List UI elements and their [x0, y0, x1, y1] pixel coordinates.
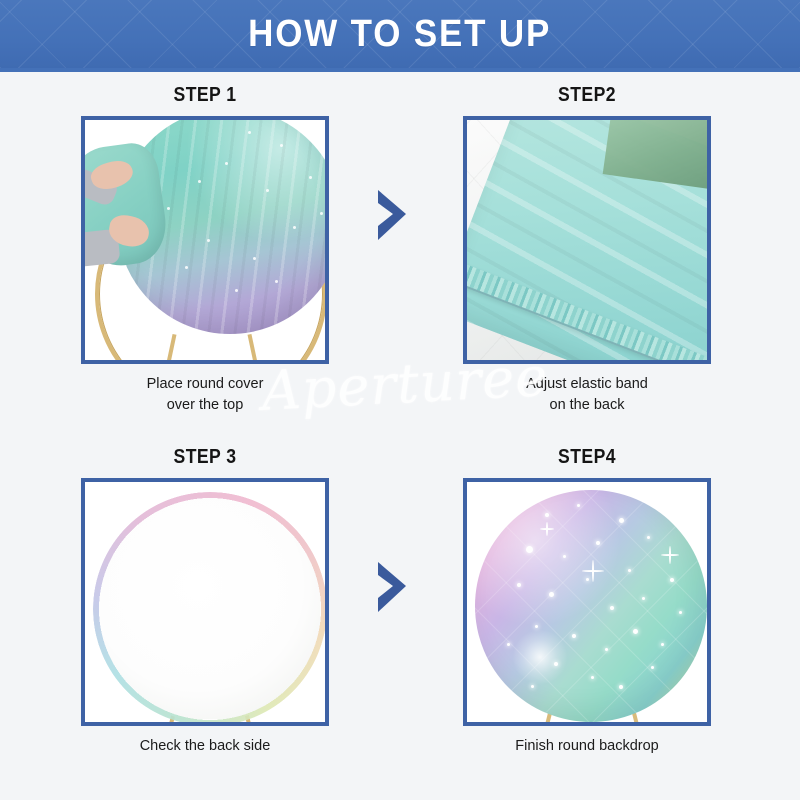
- step-4-image: [463, 478, 711, 726]
- step-2-label: STEP2: [468, 82, 706, 108]
- step-3-illustration: [85, 482, 325, 722]
- step-4-label: STEP4: [468, 444, 706, 470]
- step-3-caption-line-1: Check the back side: [70, 736, 340, 757]
- pastel-rainbow-rim: [93, 492, 325, 722]
- step-1-caption: Place round cover over the top: [70, 374, 340, 416]
- step-2-caption-line-1: Adjust elastic band: [452, 374, 722, 395]
- step-4-caption: Finish round backdrop: [452, 736, 722, 757]
- step-4-illustration: [467, 482, 707, 722]
- step-card-1: STEP 1: [70, 82, 340, 422]
- step-1-illustration: [85, 120, 325, 360]
- step-1-image: [81, 116, 329, 364]
- finished-round-backdrop: [475, 490, 707, 722]
- star-glint-icon: [661, 546, 679, 564]
- step-2-caption: Adjust elastic band on the back: [452, 374, 722, 416]
- chevron-right-icon: [376, 562, 408, 612]
- step-4-caption-line-1: Finish round backdrop: [452, 736, 722, 757]
- step-3-caption: Check the back side: [70, 736, 340, 757]
- step-1-caption-line-1: Place round cover: [70, 374, 340, 395]
- step-card-3: STEP 3 Check the back side: [70, 444, 340, 784]
- step-1-caption-line-2: over the top: [70, 395, 340, 416]
- page-title: HOW TO SET UP: [249, 13, 552, 56]
- star-glint-icon: [540, 522, 554, 536]
- step-card-2: STEP2 Adjust elastic band on the back: [452, 82, 722, 422]
- sparkle-dots: [475, 490, 707, 722]
- step-3-image: [81, 478, 329, 726]
- step-2-image: [463, 116, 711, 364]
- step-2-caption-line-2: on the back: [452, 395, 722, 416]
- star-glint-icon: [582, 560, 604, 582]
- step-3-label: STEP 3: [86, 444, 324, 470]
- step-1-label: STEP 1: [86, 82, 324, 108]
- step-card-4: STEP4: [452, 444, 722, 784]
- chevron-right-icon: [376, 190, 408, 240]
- steps-grid: STEP 1: [0, 72, 800, 800]
- page-header-banner: HOW TO SET UP: [0, 0, 800, 68]
- step-2-illustration: [467, 120, 707, 360]
